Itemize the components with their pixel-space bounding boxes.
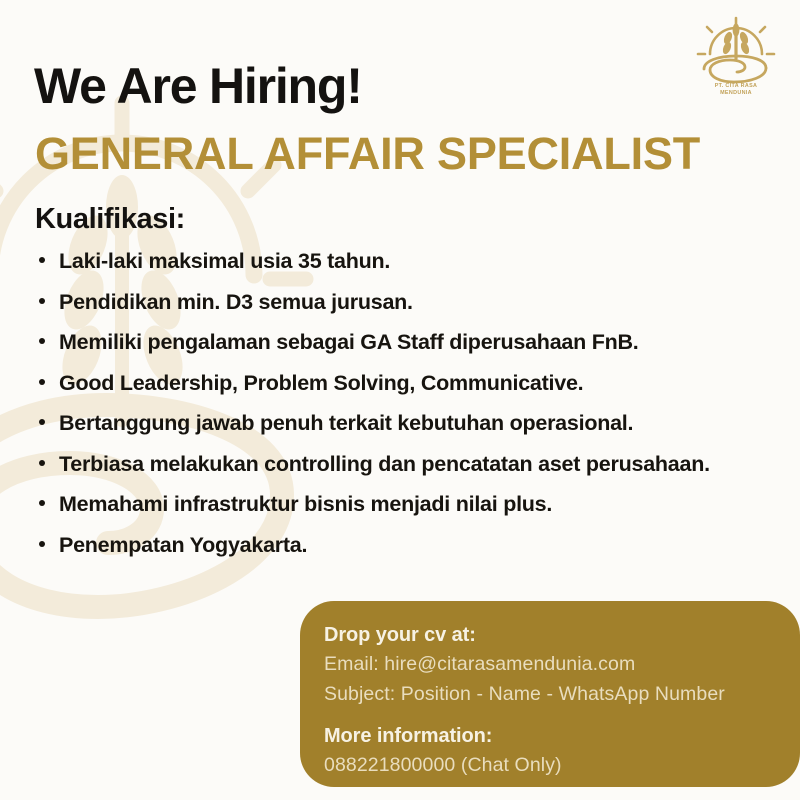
list-item: Pendidikan min. D3 semua jurusan.	[35, 287, 755, 318]
job-poster: PT. CITA RASA MENDUNIA We Are Hiring! GE…	[0, 0, 800, 800]
qualifications-list: Laki-laki maksimal usia 35 tahun. Pendid…	[35, 246, 755, 570]
company-name-line1: PT. CITA RASA	[690, 83, 782, 90]
bullet-icon	[39, 257, 45, 263]
wheat-sun-wave-icon	[690, 14, 782, 86]
list-item-text: Memiliki pengalaman sebagai GA Staff dip…	[59, 330, 638, 354]
cv-heading: Drop your cv at:	[324, 622, 800, 649]
spacer	[324, 709, 800, 723]
list-item: Memahami infrastruktur bisnis menjadi ni…	[35, 489, 755, 520]
list-item: Bertanggung jawab penuh terkait kebutuha…	[35, 408, 755, 439]
bullet-icon	[39, 419, 45, 425]
list-item: Memiliki pengalaman sebagai GA Staff dip…	[35, 327, 755, 358]
contact-panel: Drop your cv at: Email: hire@citarasamen…	[300, 601, 800, 787]
headline: We Are Hiring!	[34, 61, 362, 111]
list-item-text: Good Leadership, Problem Solving, Commun…	[59, 371, 583, 395]
list-item-text: Memahami infrastruktur bisnis menjadi ni…	[59, 492, 552, 516]
list-item: Laki-laki maksimal usia 35 tahun.	[35, 246, 755, 277]
job-title: GENERAL AFFAIR SPECIALIST	[35, 131, 700, 176]
bullet-icon	[39, 500, 45, 506]
subject-line: Subject: Position - Name - WhatsApp Numb…	[324, 679, 800, 709]
list-item-text: Terbiasa melakukan controlling dan penca…	[59, 452, 710, 476]
list-item-text: Laki-laki maksimal usia 35 tahun.	[59, 249, 390, 273]
list-item-text: Pendidikan min. D3 semua jurusan.	[59, 290, 413, 314]
list-item-text: Penempatan Yogyakarta.	[59, 533, 307, 557]
company-name: PT. CITA RASA MENDUNIA	[690, 83, 782, 98]
qualifications-heading: Kualifikasi:	[35, 203, 185, 236]
list-item: Terbiasa melakukan controlling dan penca…	[35, 449, 755, 480]
company-name-line2: MENDUNIA	[690, 90, 782, 97]
bullet-icon	[39, 298, 45, 304]
list-item: Good Leadership, Problem Solving, Commun…	[35, 368, 755, 399]
bullet-icon	[39, 338, 45, 344]
email-line[interactable]: Email: hire@citarasamendunia.com	[324, 649, 800, 679]
bullet-icon	[39, 379, 45, 385]
more-information-heading: More information:	[324, 723, 800, 750]
list-item-text: Bertanggung jawab penuh terkait kebutuha…	[59, 411, 633, 435]
company-logo: PT. CITA RASA MENDUNIA	[690, 14, 782, 106]
bullet-icon	[39, 541, 45, 547]
phone-line[interactable]: 088221800000 (Chat Only)	[324, 750, 800, 780]
bullet-icon	[39, 460, 45, 466]
list-item: Penempatan Yogyakarta.	[35, 530, 755, 561]
